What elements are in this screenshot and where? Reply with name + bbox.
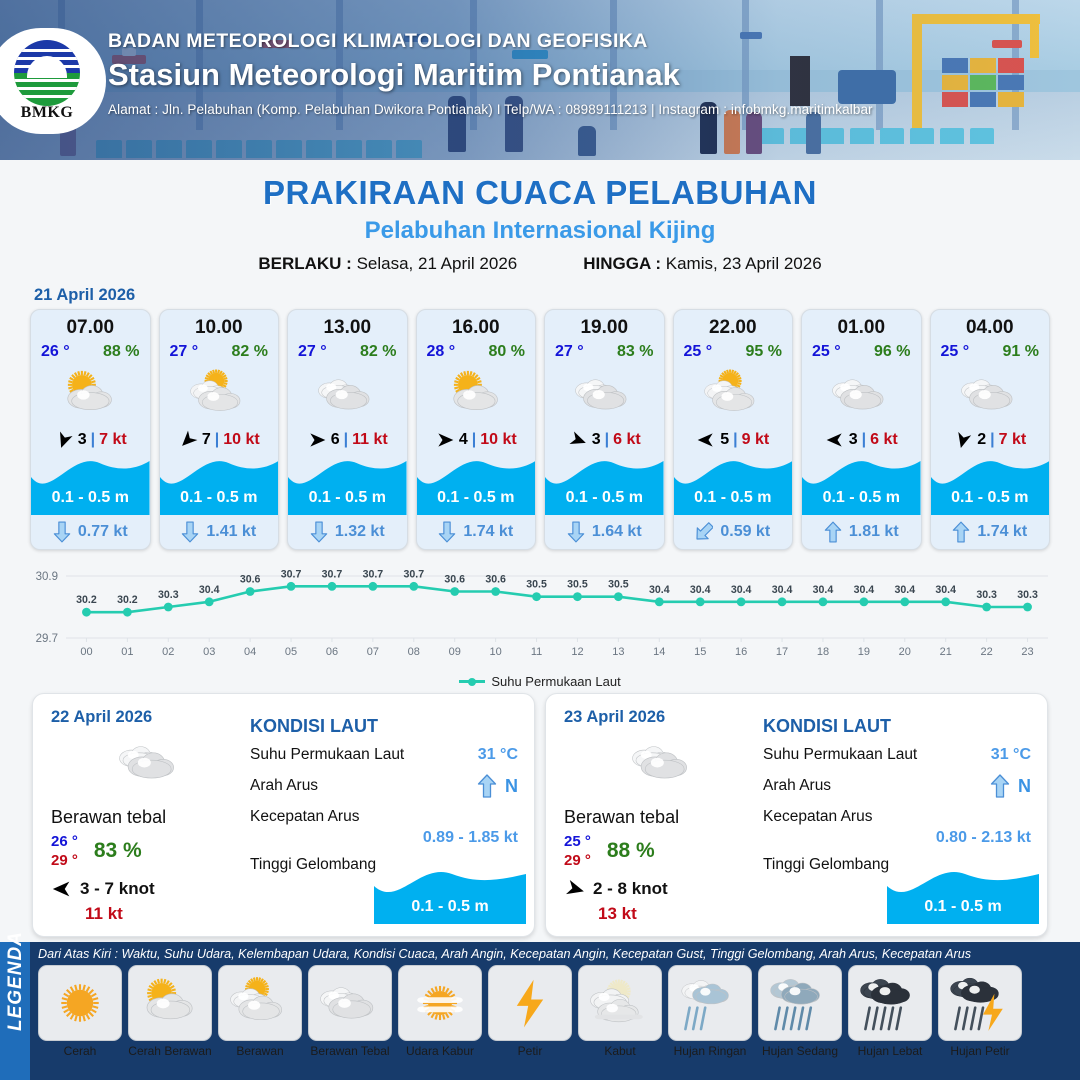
svg-text:30.4: 30.4 bbox=[854, 584, 875, 596]
petir-icon bbox=[500, 974, 560, 1032]
page-title: PRAKIRAAN CUACA PELABUHAN bbox=[0, 174, 1080, 212]
wind-separator: | bbox=[91, 431, 95, 449]
day2-weather-icon bbox=[51, 731, 248, 793]
card-wind-direction: 3 bbox=[849, 431, 858, 449]
day2-gust: 11 kt bbox=[85, 904, 248, 924]
card-wind-direction: 7 bbox=[202, 431, 211, 449]
card-current-speed: 1.32 kt bbox=[335, 523, 385, 541]
day3-temp-hum-row: 25 ° 29 ° 88 % bbox=[564, 832, 761, 870]
legend-label: Suhu Permukaan Laut bbox=[491, 674, 620, 689]
hourly-forecast-cards: 07.00 26 ° 88 % 3 | 7 kt 0.1 - 0.5 m bbox=[0, 309, 1080, 550]
legend-icon-card bbox=[758, 965, 842, 1041]
card-humidity: 95 % bbox=[746, 343, 782, 361]
day3-current-speed-label: Kecepatan Arus bbox=[763, 808, 872, 826]
legend-item: Kabut bbox=[578, 965, 662, 1058]
card-weather-icon bbox=[802, 363, 921, 425]
card-wind-speed: 7 kt bbox=[999, 431, 1027, 449]
day2-sst-value: 31 °C bbox=[478, 746, 518, 764]
day3-sst-label: Suhu Permukaan Laut bbox=[763, 746, 917, 764]
svg-text:30.4: 30.4 bbox=[935, 584, 956, 596]
svg-text:30.9: 30.9 bbox=[36, 571, 58, 583]
card-temperature: 26 ° bbox=[41, 343, 70, 361]
legend-item-label: Cerah Berawan bbox=[128, 1044, 212, 1058]
header-text-block: BADAN METEOROLOGI KLIMATOLOGI DAN GEOFIS… bbox=[108, 30, 873, 117]
day2-current-dir-row: Arah Arus N bbox=[250, 773, 518, 799]
day2-condition: Berawan tebal bbox=[51, 807, 248, 828]
card-wave-zone: 0.1 - 0.5 m bbox=[674, 455, 793, 515]
card-time: 19.00 bbox=[545, 310, 664, 339]
sst-chart: 30.929.730.20030.20130.30230.40330.60430… bbox=[0, 562, 1080, 672]
svg-text:30.6: 30.6 bbox=[485, 574, 506, 586]
legend-item: Hujan Sedang bbox=[758, 965, 842, 1058]
card-wind-row: 5 | 9 kt bbox=[674, 425, 793, 455]
legend-item: Cerah bbox=[38, 965, 122, 1058]
day3-current-speed-row: Kecepatan Arus bbox=[763, 808, 1031, 826]
day3-panel: 23 April 2026 Berawan tebal 25 ° 29 ° 88… bbox=[545, 693, 1048, 937]
current-direction-icon bbox=[310, 521, 328, 543]
legend-icon-card bbox=[488, 965, 572, 1041]
day2-current-speed-row: Kecepatan Arus bbox=[250, 808, 518, 826]
card-wave-zone: 0.1 - 0.5 m bbox=[545, 455, 664, 515]
wind-direction-icon bbox=[696, 430, 716, 450]
wind-direction-icon bbox=[178, 430, 198, 450]
legend-icon-card bbox=[578, 965, 662, 1041]
day3-wind-row: 2 - 8 knot bbox=[564, 878, 761, 900]
berawan-tebal-icon bbox=[320, 974, 380, 1032]
day3-wave-value: 0.1 - 0.5 m bbox=[887, 898, 1039, 916]
day3-current-dir-row: Arah Arus N bbox=[763, 773, 1031, 799]
card-temp-hum: 27 ° 82 % bbox=[288, 339, 407, 361]
legend-item: Petir bbox=[488, 965, 572, 1058]
card-current-speed: 0.59 kt bbox=[720, 523, 770, 541]
forecast-card: 19.00 27 ° 83 % 3 | 6 kt 0.1 - bbox=[544, 309, 665, 550]
current-direction-icon bbox=[824, 521, 842, 543]
wind-separator: | bbox=[215, 431, 219, 449]
day2-sea-title: KONDISI LAUT bbox=[250, 716, 518, 737]
card-current-speed: 0.77 kt bbox=[78, 523, 128, 541]
day2-current-dir-group: N bbox=[477, 773, 518, 799]
legend-icon-card bbox=[848, 965, 932, 1041]
svg-text:18: 18 bbox=[817, 646, 829, 658]
day2-temps: 26 ° 29 ° bbox=[51, 832, 78, 870]
validity-row: BERLAKU : Selasa, 21 April 2026 HINGGA :… bbox=[0, 254, 1080, 274]
svg-text:30.7: 30.7 bbox=[281, 568, 302, 580]
current-direction-icon bbox=[695, 521, 713, 543]
cerah-berawan-icon bbox=[140, 974, 200, 1032]
wind-separator: | bbox=[990, 431, 994, 449]
hujan-lebat-icon bbox=[860, 974, 920, 1032]
card-current-row: 0.77 kt bbox=[31, 515, 150, 549]
wind-direction-icon bbox=[307, 430, 327, 450]
page-subtitle: Pelabuhan Internasional Kijing bbox=[0, 217, 1080, 245]
legend-description: Dari Atas Kiri : Waktu, Suhu Udara, Kele… bbox=[38, 947, 1074, 961]
card-temp-hum: 27 ° 83 % bbox=[545, 339, 664, 361]
card-weather-icon bbox=[931, 363, 1050, 425]
svg-text:16: 16 bbox=[735, 646, 747, 658]
current-direction-icon bbox=[181, 521, 199, 543]
page-header: BMKG BADAN METEOROLOGI KLIMATOLOGI DAN G… bbox=[0, 0, 1080, 160]
svg-text:05: 05 bbox=[285, 646, 297, 658]
day2-current-direction-icon bbox=[477, 773, 497, 799]
svg-text:30.3: 30.3 bbox=[1017, 589, 1038, 601]
legend-main: Dari Atas Kiri : Waktu, Suhu Udara, Kele… bbox=[30, 942, 1080, 1080]
legend-item: Cerah Berawan bbox=[128, 965, 212, 1058]
svg-text:15: 15 bbox=[694, 646, 706, 658]
wind-separator: | bbox=[733, 431, 737, 449]
day3-wind-range: 2 - 8 knot bbox=[593, 879, 668, 899]
svg-text:06: 06 bbox=[326, 646, 338, 658]
forecast-card: 16.00 28 ° 80 % 4 | 10 kt 0.1 - 0.5 m bbox=[416, 309, 537, 550]
hingga-group: HINGGA : Kamis, 23 April 2026 bbox=[583, 254, 821, 274]
legend-item-label: Cerah bbox=[38, 1044, 122, 1058]
card-wind-direction: 2 bbox=[977, 431, 986, 449]
card-humidity: 88 % bbox=[103, 343, 139, 361]
card-temperature: 27 ° bbox=[298, 343, 327, 361]
svg-text:29.7: 29.7 bbox=[36, 633, 58, 645]
svg-text:30.5: 30.5 bbox=[567, 579, 588, 591]
day2-wind-range: 3 - 7 knot bbox=[80, 879, 155, 899]
card-wave-height: 0.1 - 0.5 m bbox=[31, 489, 150, 507]
card-temp-hum: 27 ° 82 % bbox=[160, 339, 279, 361]
legend-bar: LEGENDA Dari Atas Kiri : Waktu, Suhu Uda… bbox=[0, 942, 1080, 1080]
udara-kabur-icon bbox=[410, 974, 470, 1032]
day3-temps: 25 ° 29 ° bbox=[564, 832, 591, 870]
legend-side-tab: LEGENDA bbox=[0, 942, 30, 1080]
card-time: 01.00 bbox=[802, 310, 921, 339]
station-name: Stasiun Meteorologi Maritim Pontianak bbox=[108, 57, 873, 93]
card-wave-zone: 0.1 - 0.5 m bbox=[31, 455, 150, 515]
forecast-card: 04.00 25 ° 91 % 2 | 7 kt 0.1 - bbox=[930, 309, 1051, 550]
card-wave-height: 0.1 - 0.5 m bbox=[417, 489, 536, 507]
legend-icon-card bbox=[398, 965, 482, 1041]
current-direction-icon bbox=[567, 521, 585, 543]
svg-text:14: 14 bbox=[653, 646, 665, 658]
card-wind-speed: 10 kt bbox=[480, 431, 516, 449]
legend-item-label: Berawan bbox=[218, 1044, 302, 1058]
day2-sst-row: Suhu Permukaan Laut 31 °C bbox=[250, 746, 518, 764]
svg-text:09: 09 bbox=[449, 646, 461, 658]
legend-item-label: Hujan Sedang bbox=[758, 1044, 842, 1058]
cerah-icon bbox=[50, 974, 110, 1032]
legend-item-label: Berawan Tebal bbox=[308, 1044, 392, 1058]
svg-text:23: 23 bbox=[1021, 646, 1033, 658]
day3-wind-direction-icon bbox=[564, 878, 586, 900]
card-wave-zone: 0.1 - 0.5 m bbox=[802, 455, 921, 515]
day3-current-dir-label: Arah Arus bbox=[763, 777, 831, 795]
card-humidity: 83 % bbox=[617, 343, 653, 361]
svg-text:04: 04 bbox=[244, 646, 256, 658]
day2-panel: 22 April 2026 Berawan tebal 26 ° 29 ° 83… bbox=[32, 693, 535, 937]
card-current-row: 1.81 kt bbox=[802, 515, 921, 549]
svg-text:30.4: 30.4 bbox=[894, 584, 915, 596]
legend-icon-card bbox=[938, 965, 1022, 1041]
card-wind-direction: 3 bbox=[78, 431, 87, 449]
card-weather-icon bbox=[160, 363, 279, 425]
day3-sea-conditions: KONDISI LAUT Suhu Permukaan Laut 31 °C A… bbox=[761, 694, 1047, 936]
card-current-row: 1.74 kt bbox=[931, 515, 1050, 549]
card-wave-height: 0.1 - 0.5 m bbox=[160, 489, 279, 507]
card-current-speed: 1.74 kt bbox=[977, 523, 1027, 541]
svg-text:30.2: 30.2 bbox=[76, 594, 97, 606]
station-address: Alamat : Jln. Pelabuhan (Komp. Pelabuhan… bbox=[108, 102, 873, 117]
svg-text:30.5: 30.5 bbox=[526, 579, 547, 591]
legend-item-label: Hujan Petir bbox=[938, 1044, 1022, 1058]
legend-item-label: Kabut bbox=[578, 1044, 662, 1058]
card-wind-direction: 4 bbox=[459, 431, 468, 449]
card-wind-speed: 7 kt bbox=[99, 431, 127, 449]
day2-humidity: 83 % bbox=[94, 839, 142, 863]
day3-current-speed: 0.80 - 2.13 kt bbox=[763, 829, 1031, 847]
day2-current-speed: 0.89 - 1.85 kt bbox=[250, 829, 518, 847]
card-wind-direction: 5 bbox=[720, 431, 729, 449]
legend-item-label: Hujan Ringan bbox=[668, 1044, 752, 1058]
card-wind-row: 6 | 11 kt bbox=[288, 425, 407, 455]
card-wave-height: 0.1 - 0.5 m bbox=[931, 489, 1050, 507]
day3-current-dir-group: N bbox=[990, 773, 1031, 799]
wind-direction-icon bbox=[435, 430, 455, 450]
current-direction-icon bbox=[438, 521, 456, 543]
card-wind-speed: 11 kt bbox=[352, 431, 388, 449]
day2-wave-label: Tinggi Gelombang bbox=[250, 856, 376, 874]
legend-icon-card bbox=[38, 965, 122, 1041]
card-temperature: 28 ° bbox=[427, 343, 456, 361]
day3-wave-box: 0.1 - 0.5 m bbox=[887, 868, 1039, 924]
card-current-row: 1.64 kt bbox=[545, 515, 664, 549]
svg-text:21: 21 bbox=[940, 646, 952, 658]
svg-text:30.4: 30.4 bbox=[731, 584, 752, 596]
legend-icon-card bbox=[128, 965, 212, 1041]
day2-sst-label: Suhu Permukaan Laut bbox=[250, 746, 404, 764]
hujan-sedang-icon bbox=[770, 974, 830, 1032]
day3-gust: 13 kt bbox=[598, 904, 761, 924]
card-wind-direction: 3 bbox=[592, 431, 601, 449]
svg-text:07: 07 bbox=[367, 646, 379, 658]
card-wave-zone: 0.1 - 0.5 m bbox=[417, 455, 536, 515]
svg-text:00: 00 bbox=[80, 646, 92, 658]
hujan-ringan-icon bbox=[680, 974, 740, 1032]
svg-text:30.7: 30.7 bbox=[403, 568, 424, 580]
card-wave-zone: 0.1 - 0.5 m bbox=[931, 455, 1050, 515]
svg-text:30.5: 30.5 bbox=[608, 579, 629, 591]
card-weather-icon bbox=[417, 363, 536, 425]
card-time: 10.00 bbox=[160, 310, 279, 339]
svg-text:30.4: 30.4 bbox=[199, 584, 220, 596]
svg-text:30.7: 30.7 bbox=[322, 568, 343, 580]
card-wave-zone: 0.1 - 0.5 m bbox=[160, 455, 279, 515]
svg-text:17: 17 bbox=[776, 646, 788, 658]
day2-current-dir: N bbox=[505, 776, 518, 797]
card-wind-direction: 6 bbox=[331, 431, 340, 449]
card-time: 22.00 bbox=[674, 310, 793, 339]
svg-text:20: 20 bbox=[899, 646, 911, 658]
day2-temp-max: 29 ° bbox=[51, 851, 78, 870]
card-current-speed: 1.74 kt bbox=[463, 523, 513, 541]
svg-text:30.4: 30.4 bbox=[772, 584, 793, 596]
day2-current-dir-label: Arah Arus bbox=[250, 777, 318, 795]
day2-temp-min: 26 ° bbox=[51, 832, 78, 851]
card-wave-height: 0.1 - 0.5 m bbox=[674, 489, 793, 507]
berlaku-value: Selasa, 21 April 2026 bbox=[357, 254, 518, 273]
legend-item-label: Petir bbox=[488, 1044, 572, 1058]
day2-current-speed-label: Kecepatan Arus bbox=[250, 808, 359, 826]
legend-icon-card bbox=[668, 965, 752, 1041]
card-current-speed: 1.41 kt bbox=[206, 523, 256, 541]
kabut-icon bbox=[590, 974, 650, 1032]
svg-text:30.3: 30.3 bbox=[158, 589, 179, 601]
legend-marker-icon bbox=[459, 680, 485, 683]
wind-separator: | bbox=[472, 431, 476, 449]
legend-icon-card bbox=[218, 965, 302, 1041]
card-humidity: 82 % bbox=[360, 343, 396, 361]
svg-text:22: 22 bbox=[981, 646, 993, 658]
agency-name: BADAN METEOROLOGI KLIMATOLOGI DAN GEOFIS… bbox=[108, 30, 873, 53]
card-wave-height: 0.1 - 0.5 m bbox=[802, 489, 921, 507]
day2-wave-box: 0.1 - 0.5 m bbox=[374, 868, 526, 924]
card-wind-speed: 9 kt bbox=[742, 431, 770, 449]
legend-item: Hujan Ringan bbox=[668, 965, 752, 1058]
card-current-row: 1.74 kt bbox=[417, 515, 536, 549]
forecast-card: 07.00 26 ° 88 % 3 | 7 kt 0.1 - 0.5 m bbox=[30, 309, 151, 550]
day3-left: 23 April 2026 Berawan tebal 25 ° 29 ° 88… bbox=[546, 694, 761, 936]
card-current-row: 1.41 kt bbox=[160, 515, 279, 549]
card-time: 04.00 bbox=[931, 310, 1050, 339]
svg-text:01: 01 bbox=[121, 646, 133, 658]
card-humidity: 80 % bbox=[489, 343, 525, 361]
card-time: 13.00 bbox=[288, 310, 407, 339]
card-wind-row: 2 | 7 kt bbox=[931, 425, 1050, 455]
svg-text:19: 19 bbox=[858, 646, 870, 658]
forecast-title-block: PRAKIRAAN CUACA PELABUHAN Pelabuhan Inte… bbox=[0, 160, 1080, 274]
wind-direction-icon bbox=[568, 430, 588, 450]
svg-text:30.3: 30.3 bbox=[976, 589, 997, 601]
legend-item: Berawan Tebal bbox=[308, 965, 392, 1058]
card-temperature: 25 ° bbox=[941, 343, 970, 361]
card-wind-speed: 10 kt bbox=[223, 431, 259, 449]
day1-date: 21 April 2026 bbox=[34, 286, 1080, 305]
current-direction-icon bbox=[952, 521, 970, 543]
legend-icon-card bbox=[308, 965, 392, 1041]
svg-text:30.6: 30.6 bbox=[444, 574, 465, 586]
card-current-speed: 1.81 kt bbox=[849, 523, 899, 541]
day3-wave-label: Tinggi Gelombang bbox=[763, 856, 889, 874]
forecast-card: 01.00 25 ° 96 % 3 | 6 kt 0.1 - bbox=[801, 309, 922, 550]
svg-text:30.4: 30.4 bbox=[690, 584, 711, 596]
wind-direction-icon bbox=[825, 430, 845, 450]
day3-sst-row: Suhu Permukaan Laut 31 °C bbox=[763, 746, 1031, 764]
card-weather-icon bbox=[31, 363, 150, 425]
svg-text:11: 11 bbox=[531, 646, 542, 658]
day2-sea-conditions: KONDISI LAUT Suhu Permukaan Laut 31 °C A… bbox=[248, 694, 534, 936]
legend-side-label: LEGENDA bbox=[5, 939, 27, 1031]
day2-temp-hum-row: 26 ° 29 ° 83 % bbox=[51, 832, 248, 870]
svg-text:08: 08 bbox=[408, 646, 420, 658]
svg-text:03: 03 bbox=[203, 646, 215, 658]
card-weather-icon bbox=[545, 363, 664, 425]
day3-current-dir: N bbox=[1018, 776, 1031, 797]
day2-date: 22 April 2026 bbox=[51, 708, 248, 727]
bmkg-logo-text: BMKG bbox=[8, 104, 86, 122]
card-current-row: 0.59 kt bbox=[674, 515, 793, 549]
card-wave-height: 0.1 - 0.5 m bbox=[545, 489, 664, 507]
card-weather-icon bbox=[674, 363, 793, 425]
card-humidity: 91 % bbox=[1003, 343, 1039, 361]
svg-text:30.2: 30.2 bbox=[117, 594, 138, 606]
card-temp-hum: 26 ° 88 % bbox=[31, 339, 150, 361]
day3-humidity: 88 % bbox=[607, 839, 655, 863]
card-wind-row: 3 | 6 kt bbox=[802, 425, 921, 455]
card-weather-icon bbox=[288, 363, 407, 425]
card-humidity: 96 % bbox=[874, 343, 910, 361]
bmkg-logo-emblem bbox=[14, 40, 80, 106]
card-temperature: 27 ° bbox=[170, 343, 199, 361]
hingga-label: HINGGA : bbox=[583, 254, 661, 273]
card-wind-speed: 6 kt bbox=[613, 431, 641, 449]
svg-text:30.6: 30.6 bbox=[240, 574, 261, 586]
legend-item: Berawan bbox=[218, 965, 302, 1058]
wind-separator: | bbox=[605, 431, 609, 449]
berlaku-group: BERLAKU : Selasa, 21 April 2026 bbox=[258, 254, 517, 274]
forecast-card: 10.00 27 ° 82 % 7 | 10 kt 0.1 - bbox=[159, 309, 280, 550]
forecast-card: 13.00 27 ° 82 % 6 | 11 kt 0.1 - bbox=[287, 309, 408, 550]
day3-temp-min: 25 ° bbox=[564, 832, 591, 851]
daily-forecast-panels: 22 April 2026 Berawan tebal 26 ° 29 ° 83… bbox=[0, 689, 1080, 937]
day3-date: 23 April 2026 bbox=[564, 708, 761, 727]
card-wave-height: 0.1 - 0.5 m bbox=[288, 489, 407, 507]
legend-item: Udara Kabur bbox=[398, 965, 482, 1058]
card-current-row: 1.32 kt bbox=[288, 515, 407, 549]
day3-sst-value: 31 °C bbox=[991, 746, 1031, 764]
wind-separator: | bbox=[344, 431, 348, 449]
forecast-card: 22.00 25 ° 95 % 5 | 9 kt 0.1 - bbox=[673, 309, 794, 550]
legend-item: Hujan Lebat bbox=[848, 965, 932, 1058]
berawan-icon bbox=[230, 974, 290, 1032]
svg-text:30.4: 30.4 bbox=[649, 584, 670, 596]
legend-item-label: Udara Kabur bbox=[398, 1044, 482, 1058]
day3-sea-title: KONDISI LAUT bbox=[763, 716, 1031, 737]
card-current-speed: 1.64 kt bbox=[592, 523, 642, 541]
day3-weather-icon bbox=[564, 731, 761, 793]
card-temperature: 25 ° bbox=[812, 343, 841, 361]
current-direction-icon bbox=[53, 521, 71, 543]
wind-direction-icon bbox=[54, 430, 74, 450]
card-humidity: 82 % bbox=[232, 343, 268, 361]
svg-text:30.4: 30.4 bbox=[813, 584, 834, 596]
card-temp-hum: 25 ° 95 % bbox=[674, 339, 793, 361]
card-temp-hum: 25 ° 91 % bbox=[931, 339, 1050, 361]
svg-text:02: 02 bbox=[162, 646, 174, 658]
day3-current-direction-icon bbox=[990, 773, 1010, 799]
chart-legend: Suhu Permukaan Laut bbox=[0, 674, 1080, 689]
legend-item-label: Hujan Lebat bbox=[848, 1044, 932, 1058]
svg-text:30.7: 30.7 bbox=[363, 568, 384, 580]
wind-direction-icon bbox=[953, 430, 973, 450]
card-temp-hum: 28 ° 80 % bbox=[417, 339, 536, 361]
svg-text:13: 13 bbox=[612, 646, 624, 658]
day2-wind-row: 3 - 7 knot bbox=[51, 878, 248, 900]
card-wind-row: 3 | 6 kt bbox=[545, 425, 664, 455]
wind-separator: | bbox=[862, 431, 866, 449]
card-wind-row: 4 | 10 kt bbox=[417, 425, 536, 455]
legend-items: Cerah Cerah Berawan Berawan bbox=[38, 965, 1074, 1058]
bmkg-logo: BMKG bbox=[0, 28, 106, 134]
svg-text:10: 10 bbox=[490, 646, 502, 658]
day2-left: 22 April 2026 Berawan tebal 26 ° 29 ° 83… bbox=[33, 694, 248, 936]
card-temperature: 27 ° bbox=[555, 343, 584, 361]
card-wind-speed: 6 kt bbox=[870, 431, 898, 449]
day3-condition: Berawan tebal bbox=[564, 807, 761, 828]
legend-item: Hujan Petir bbox=[938, 965, 1022, 1058]
day2-wind-direction-icon bbox=[51, 878, 73, 900]
